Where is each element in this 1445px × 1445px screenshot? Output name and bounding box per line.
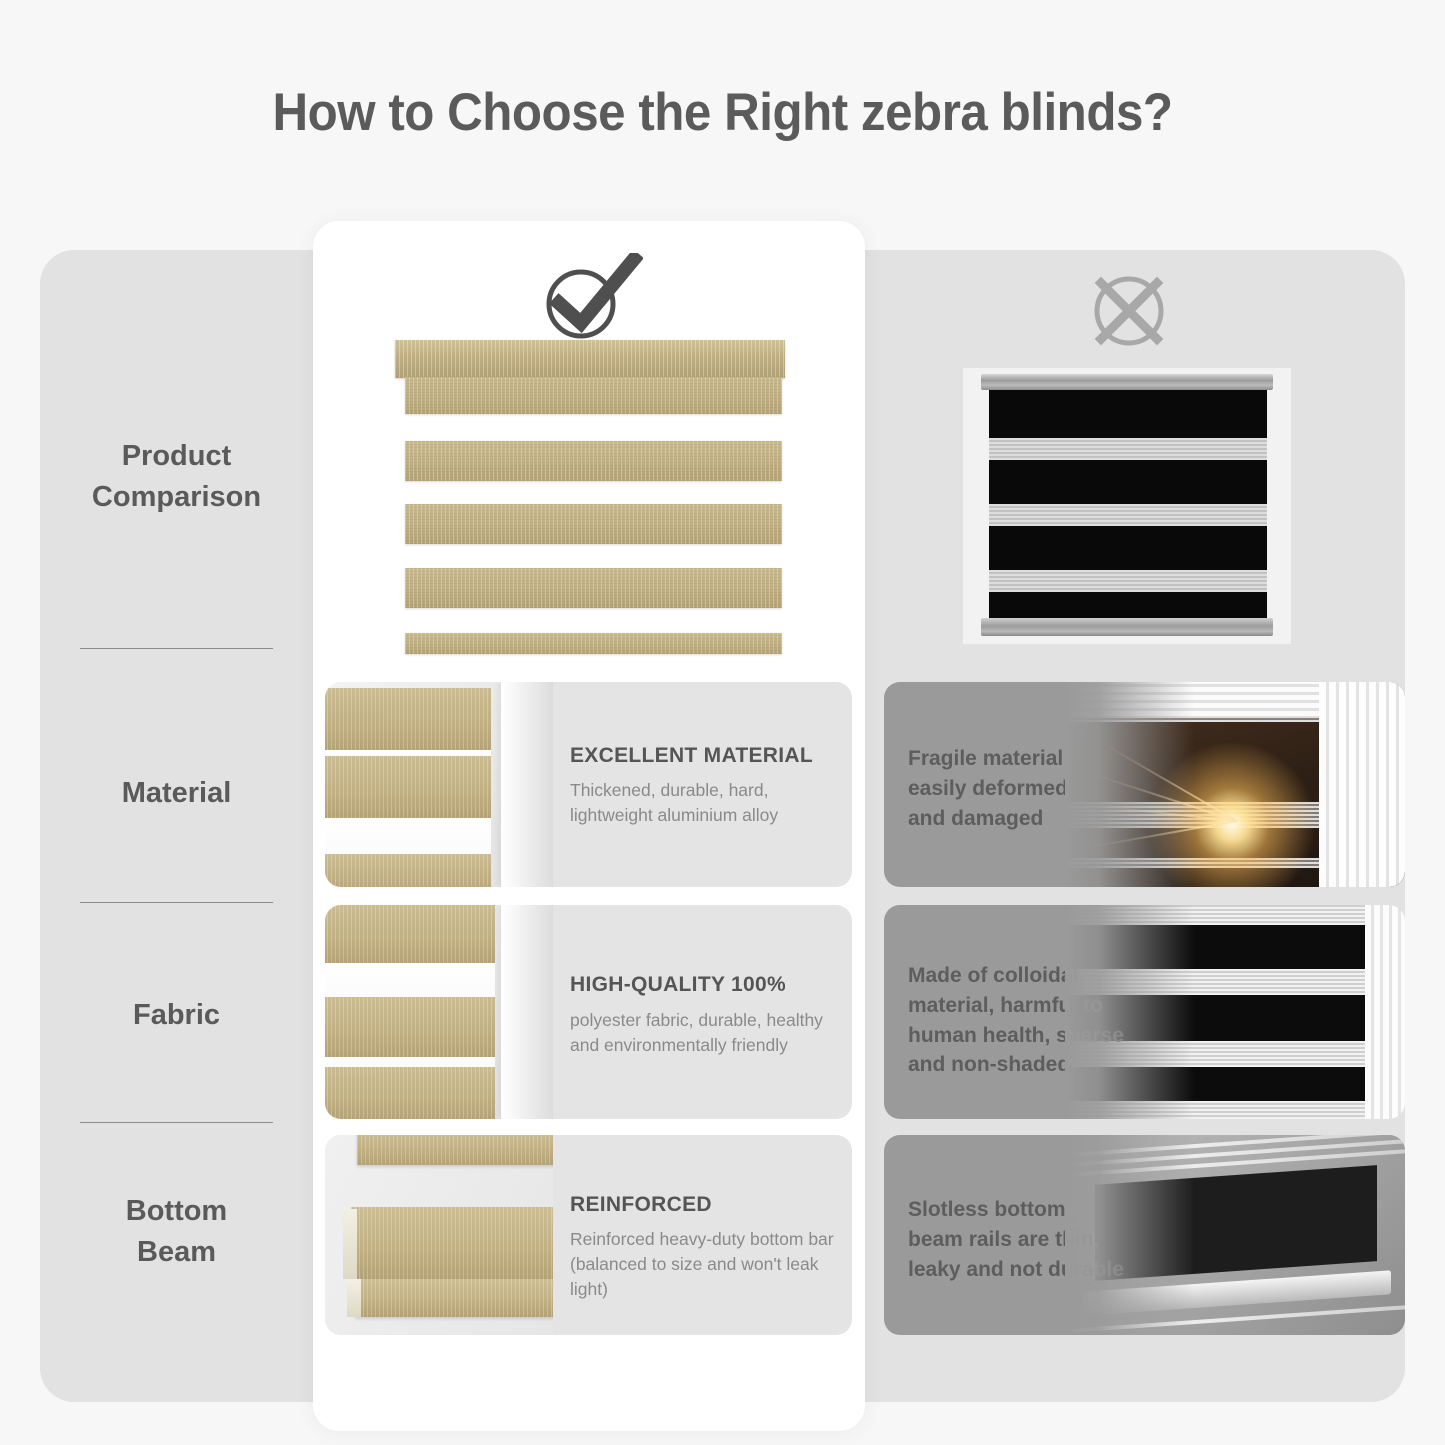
metal-bottom-rail bbox=[981, 618, 1273, 636]
tan-band bbox=[405, 441, 782, 481]
good-feature-title: REINFORCED bbox=[570, 1193, 712, 1217]
good-feature-photo bbox=[325, 682, 553, 887]
row-divider bbox=[80, 648, 273, 649]
bad-feature-photo bbox=[1065, 905, 1405, 1119]
page-title: How to Choose the Right zebra blinds? bbox=[51, 82, 1395, 143]
sheer-band bbox=[989, 570, 1267, 592]
good-feature-photo bbox=[325, 1135, 553, 1335]
good-feature-text: HIGH-QUALITY 100% polyester fabric, dura… bbox=[570, 905, 845, 1119]
cross-circle-icon bbox=[1084, 266, 1174, 356]
black-band bbox=[989, 460, 1267, 504]
bad-feature-card-fabric: Made of colloidal material, harmful to h… bbox=[884, 905, 1405, 1119]
sheer-band bbox=[989, 504, 1267, 526]
row-label-product-comparison: Product Comparison bbox=[40, 436, 313, 518]
good-feature-card-fabric: HIGH-QUALITY 100% polyester fabric, dura… bbox=[325, 905, 852, 1119]
row-label-fabric: Fabric bbox=[40, 995, 313, 1036]
row-label-column: Product Comparison Material Fabric Botto… bbox=[40, 250, 313, 1402]
tan-band bbox=[405, 568, 782, 608]
bad-product-hero-image bbox=[963, 368, 1291, 644]
tan-band bbox=[405, 504, 782, 544]
bad-feature-photo bbox=[1065, 1135, 1405, 1335]
tan-bottom-bar bbox=[405, 633, 782, 654]
row-divider bbox=[80, 1122, 273, 1123]
black-band bbox=[989, 592, 1267, 620]
tan-band bbox=[405, 377, 782, 414]
black-band bbox=[989, 526, 1267, 570]
metal-headrail bbox=[981, 374, 1273, 390]
good-feature-card-material: EXCELLENT MATERIAL Thickened, durable, h… bbox=[325, 682, 852, 887]
bad-feature-card-material: Fragile material easily deformed and dam… bbox=[884, 682, 1405, 887]
good-feature-body: Reinforced heavy-duty bottom bar (balanc… bbox=[570, 1227, 838, 1302]
tan-headrail bbox=[395, 340, 785, 378]
good-feature-text: REINFORCED Reinforced heavy-duty bottom … bbox=[570, 1135, 845, 1335]
good-feature-body: Thickened, durable, hard, lightweight al… bbox=[570, 778, 838, 828]
good-feature-photo bbox=[325, 905, 553, 1119]
row-label-material: Material bbox=[40, 773, 313, 814]
row-divider bbox=[80, 902, 273, 903]
sheer-band bbox=[989, 438, 1267, 460]
check-circle-icon bbox=[533, 253, 643, 341]
good-feature-body: polyester fabric, durable, healthy and e… bbox=[570, 1008, 838, 1058]
good-feature-text: EXCELLENT MATERIAL Thickened, durable, h… bbox=[570, 682, 845, 887]
black-band bbox=[989, 390, 1267, 438]
row-label-bottom-beam: Bottom Beam bbox=[40, 1191, 313, 1273]
good-feature-title: EXCELLENT MATERIAL bbox=[570, 744, 813, 768]
good-feature-title: HIGH-QUALITY 100% bbox=[570, 973, 786, 997]
bad-feature-photo bbox=[1065, 682, 1405, 887]
good-feature-card-bottom-beam: REINFORCED Reinforced heavy-duty bottom … bbox=[325, 1135, 852, 1335]
good-product-hero-image bbox=[373, 336, 805, 672]
bad-feature-card-bottom-beam: Slotless bottom beam rails are thin, lea… bbox=[884, 1135, 1405, 1335]
